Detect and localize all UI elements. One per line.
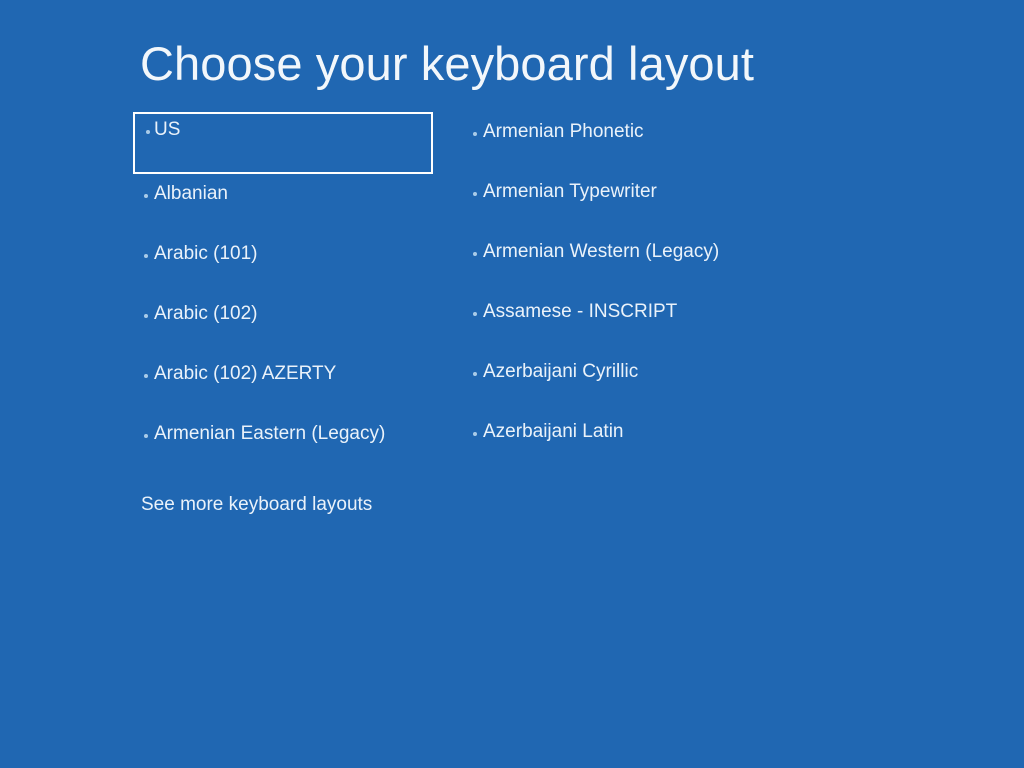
keyboard-layout-option[interactable]: Arabic (102) AZERTY xyxy=(133,354,433,414)
bullet-dot-icon xyxy=(144,194,148,198)
keyboard-layout-option[interactable]: Armenian Eastern (Legacy) xyxy=(133,414,433,474)
keyboard-layout-option[interactable]: Armenian Phonetic xyxy=(462,112,792,172)
bullet-dot-icon xyxy=(473,252,477,256)
keyboard-layout-option[interactable]: Albanian xyxy=(133,174,433,234)
keyboard-layout-option[interactable]: Azerbaijani Latin xyxy=(462,412,792,472)
bullet-dot-icon xyxy=(146,130,150,134)
bullet-dot-icon xyxy=(144,374,148,378)
keyboard-layout-option[interactable]: US xyxy=(133,112,433,174)
keyboard-layout-screen: Choose your keyboard layout USAlbanianAr… xyxy=(0,0,1024,768)
page-title: Choose your keyboard layout xyxy=(140,36,754,92)
keyboard-layout-option[interactable]: Assamese - INSCRIPT xyxy=(462,292,792,352)
keyboard-layout-column-right: Armenian PhoneticArmenian TypewriterArme… xyxy=(462,112,792,472)
keyboard-layout-column-left: USAlbanianArabic (101)Arabic (102)Arabic… xyxy=(133,112,433,474)
keyboard-layout-option-label: Arabic (102) xyxy=(154,294,258,326)
keyboard-layout-option-label: Albanian xyxy=(154,174,228,206)
keyboard-layout-option-label: Assamese - INSCRIPT xyxy=(483,292,677,324)
keyboard-layout-option-label: Arabic (101) xyxy=(154,234,258,266)
keyboard-layout-option-label: Armenian Western (Legacy) xyxy=(483,232,719,264)
keyboard-layout-option-label: Arabic (102) AZERTY xyxy=(154,354,336,386)
bullet-dot-icon xyxy=(473,312,477,316)
keyboard-layout-option-label: Armenian Typewriter xyxy=(483,172,657,204)
bullet-dot-icon xyxy=(144,254,148,258)
bullet-dot-icon xyxy=(144,434,148,438)
keyboard-layout-option-label: US xyxy=(154,114,180,142)
keyboard-layout-option[interactable]: Armenian Typewriter xyxy=(462,172,792,232)
bullet-dot-icon xyxy=(473,132,477,136)
keyboard-layout-option-label: Armenian Phonetic xyxy=(483,112,644,144)
keyboard-layout-option[interactable]: Azerbaijani Cyrillic xyxy=(462,352,792,412)
keyboard-layout-option-label: Azerbaijani Cyrillic xyxy=(483,352,638,384)
bullet-dot-icon xyxy=(473,432,477,436)
keyboard-layout-option[interactable]: Armenian Western (Legacy) xyxy=(462,232,792,292)
keyboard-layout-option-label: Armenian Eastern (Legacy) xyxy=(154,414,385,446)
bullet-dot-icon xyxy=(473,372,477,376)
bullet-dot-icon xyxy=(144,314,148,318)
keyboard-layout-option-label: Azerbaijani Latin xyxy=(483,412,623,444)
bullet-dot-icon xyxy=(473,192,477,196)
keyboard-layout-option[interactable]: Arabic (101) xyxy=(133,234,433,294)
keyboard-layout-option[interactable]: Arabic (102) xyxy=(133,294,433,354)
see-more-keyboard-layouts-link[interactable]: See more keyboard layouts xyxy=(141,492,372,518)
